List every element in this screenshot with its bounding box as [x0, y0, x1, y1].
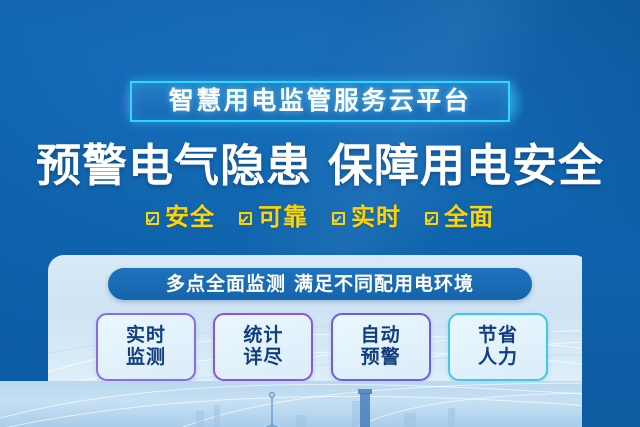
- checkbox-checked-icon: [146, 212, 159, 225]
- feature-item: 实时: [332, 206, 401, 230]
- headline-part1: 预警电气隐患: [36, 140, 312, 191]
- title-glow-right: [508, 78, 526, 125]
- feature-item: 全面: [425, 206, 494, 230]
- feature-item: 安全: [146, 206, 215, 230]
- feature-label: 实时: [351, 206, 401, 230]
- card-line1: 统计: [243, 325, 283, 347]
- bottom-cityscape-scene: [0, 381, 640, 427]
- card-line2: 监测: [126, 347, 166, 369]
- card-line2: 预警: [361, 347, 401, 369]
- card-line1: 节省: [478, 325, 518, 347]
- platform-title-text: 智慧用电监管服务云平台: [169, 89, 472, 114]
- platform-title-box: 智慧用电监管服务云平台: [130, 81, 510, 122]
- card-line2: 人力: [478, 347, 518, 369]
- checkbox-checked-icon: [239, 212, 252, 225]
- card-save-manpower[interactable]: 节省 人力: [448, 313, 548, 381]
- feature-label: 安全: [165, 206, 215, 230]
- sub-banner-part1: 多点全面监测: [166, 274, 286, 295]
- card-line1: 自动: [361, 325, 401, 347]
- headline-part2: 保障用电安全: [328, 140, 604, 191]
- card-detailed-statistics[interactable]: 统计 详尽: [213, 313, 313, 381]
- feature-label: 可靠: [258, 206, 308, 230]
- checkbox-checked-icon: [332, 212, 345, 225]
- feature-item: 可靠: [239, 206, 308, 230]
- promo-poster: 智慧用电监管服务云平台 预警电气隐患保障用电安全 安全 可靠 实时 全面: [0, 0, 640, 427]
- right-blue-edge: [582, 250, 640, 427]
- card-automatic-alarm[interactable]: 自动 预警: [331, 313, 431, 381]
- checkbox-checked-icon: [425, 212, 438, 225]
- card-line1: 实时: [126, 325, 166, 347]
- cityscape-illustration: [0, 381, 640, 427]
- sub-banner-pill: 多点全面监测满足不同配用电环境: [108, 268, 532, 300]
- card-realtime-monitoring[interactable]: 实时 监测: [96, 313, 196, 381]
- feature-card-row: 实时 监测 统计 详尽 自动 预警 节省 人力: [96, 313, 548, 381]
- sub-banner-part2: 满足不同配用电环境: [294, 274, 474, 295]
- feature-check-row: 安全 可靠 实时 全面: [0, 203, 640, 233]
- card-line2: 详尽: [243, 347, 283, 369]
- headline: 预警电气隐患保障用电安全: [0, 136, 640, 194]
- feature-label: 全面: [444, 206, 494, 230]
